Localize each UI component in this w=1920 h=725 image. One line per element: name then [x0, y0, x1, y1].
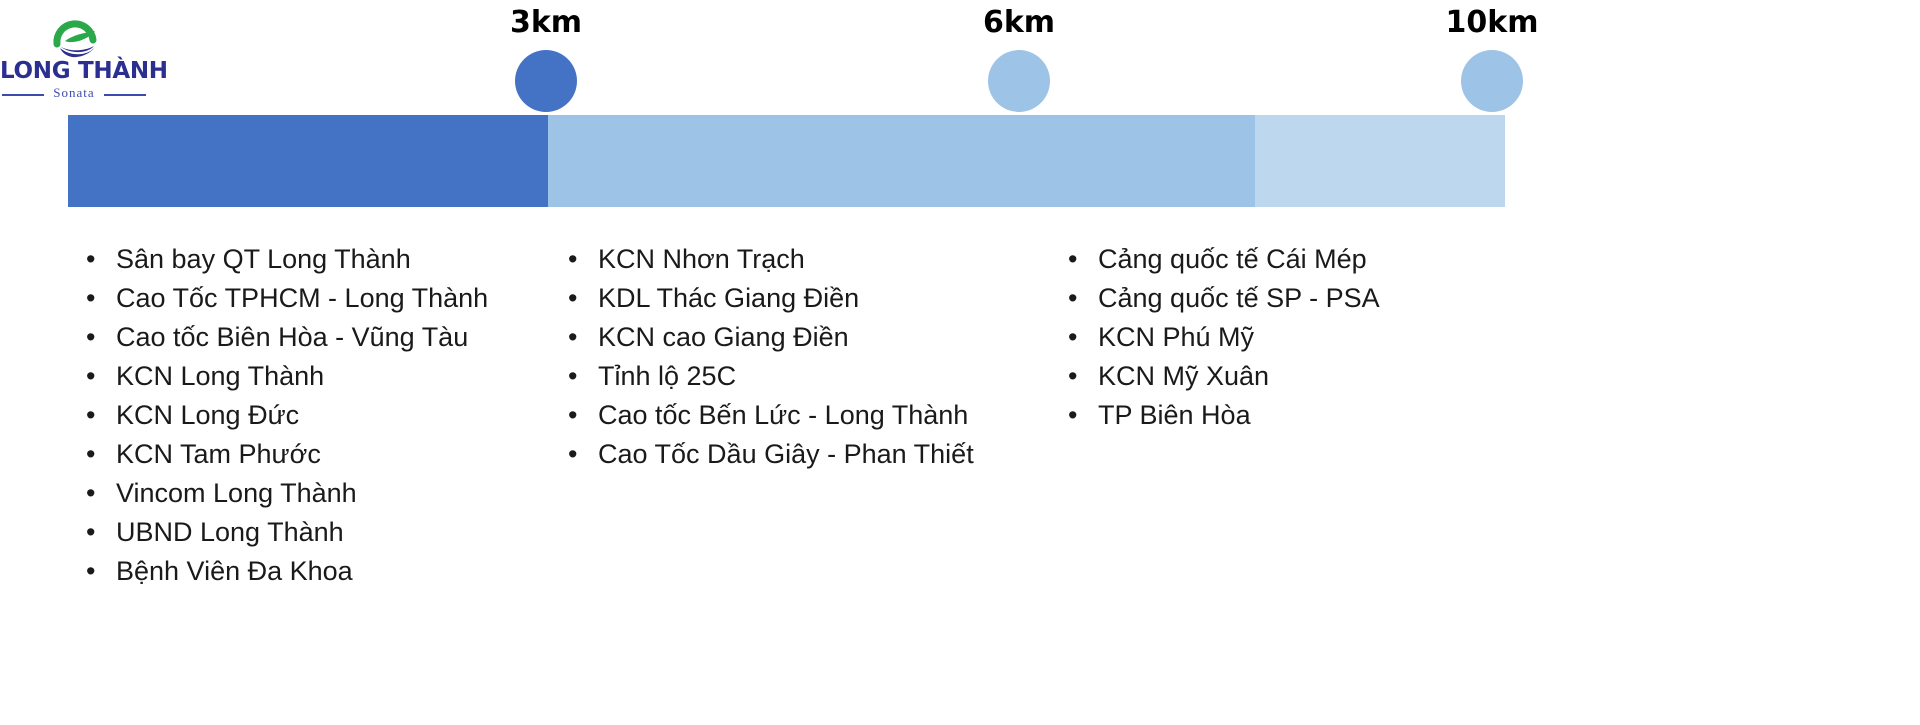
bullet-icon: •	[1068, 279, 1077, 318]
bullet-icon: •	[568, 396, 577, 435]
zone-bar-segment-6km	[548, 115, 1255, 207]
amenity-item: •KCN Tam Phước	[68, 435, 488, 474]
amenity-item: •Cao tốc Bến Lức - Long Thành	[550, 396, 974, 435]
amenity-list-3km: •Sân bay QT Long Thành•Cao Tốc TPHCM - L…	[68, 240, 488, 591]
amenity-column-10km: •Cảng quốc tế Cái Mép•Cảng quốc tế SP - …	[1050, 240, 1380, 435]
distance-marker-10km: 10km	[1432, 5, 1552, 115]
amenity-label: KCN cao Giang Điền	[598, 322, 849, 352]
distance-label-6km: 6km	[983, 5, 1055, 40]
bullet-icon: •	[86, 552, 95, 591]
amenity-item: •KCN Long Đức	[68, 396, 488, 435]
brand-tagline: Sonata	[0, 85, 148, 101]
amenity-label: Cảng quốc tế SP - PSA	[1098, 283, 1380, 313]
distance-marker-3km: 3km	[486, 5, 606, 115]
amenity-label: Cao tốc Bến Lức - Long Thành	[598, 400, 968, 430]
amenity-label: Cao tốc Biên Hòa - Vũng Tàu	[116, 322, 468, 352]
amenity-label: Vincom Long Thành	[116, 478, 357, 508]
brand-name: LONG THÀNH	[0, 58, 148, 84]
infographic-canvas: LONG THÀNH Sonata 3km 6km 10km •Sân bay …	[0, 0, 1920, 725]
amenity-item: •KCN Long Thành	[68, 357, 488, 396]
plane-in-circle-logo-icon	[47, 18, 107, 60]
bullet-icon: •	[1068, 318, 1077, 357]
amenity-item: •KCN Nhơn Trạch	[550, 240, 974, 279]
amenity-label: Tỉnh lộ 25C	[598, 361, 736, 391]
bullet-icon: •	[568, 318, 577, 357]
distance-dot-3km-icon	[515, 50, 577, 112]
amenity-column-3km: •Sân bay QT Long Thành•Cao Tốc TPHCM - L…	[68, 240, 488, 591]
amenity-item: •KCN cao Giang Điền	[550, 318, 974, 357]
amenity-item: •Cao tốc Biên Hòa - Vũng Tàu	[68, 318, 488, 357]
amenity-label: TP Biên Hòa	[1098, 400, 1251, 430]
bullet-icon: •	[1068, 240, 1077, 279]
amenity-item: •Sân bay QT Long Thành	[68, 240, 488, 279]
distance-marker-6km: 6km	[959, 5, 1079, 115]
amenity-label: KCN Nhơn Trạch	[598, 244, 805, 274]
bullet-icon: •	[86, 279, 95, 318]
bullet-icon: •	[86, 240, 95, 279]
amenity-list-10km: •Cảng quốc tế Cái Mép•Cảng quốc tế SP - …	[1050, 240, 1380, 435]
amenity-item: •TP Biên Hòa	[1050, 396, 1380, 435]
amenity-label: UBND Long Thành	[116, 517, 344, 547]
amenity-item: •KCN Phú Mỹ	[1050, 318, 1380, 357]
amenity-label: Sân bay QT Long Thành	[116, 244, 411, 274]
bullet-icon: •	[568, 279, 577, 318]
amenity-item: •KDL Thác Giang Điền	[550, 279, 974, 318]
bullet-icon: •	[1068, 396, 1077, 435]
amenity-label: Cảng quốc tế Cái Mép	[1098, 244, 1367, 274]
amenity-label: Cao Tốc TPHCM - Long Thành	[116, 283, 488, 313]
amenity-label: KCN Phú Mỹ	[1098, 322, 1254, 352]
bullet-icon: •	[1068, 357, 1077, 396]
bullet-icon: •	[568, 357, 577, 396]
bullet-icon: •	[86, 318, 95, 357]
amenity-label: KCN Long Thành	[116, 361, 324, 391]
bullet-icon: •	[86, 435, 95, 474]
amenity-item: •UBND Long Thành	[68, 513, 488, 552]
amenity-label: KCN Mỹ Xuân	[1098, 361, 1269, 391]
amenity-item: •Tỉnh lộ 25C	[550, 357, 974, 396]
amenity-item: •Cao Tốc Dầu Giây - Phan Thiết	[550, 435, 974, 474]
amenity-label: KCN Long Đức	[116, 400, 299, 430]
amenity-label: Cao Tốc Dầu Giây - Phan Thiết	[598, 439, 974, 469]
brand-logo: LONG THÀNH Sonata	[0, 18, 148, 100]
bullet-icon: •	[568, 240, 577, 279]
amenity-item: •Cao Tốc TPHCM - Long Thành	[68, 279, 488, 318]
bullet-icon: •	[86, 396, 95, 435]
distance-label-3km: 3km	[510, 5, 582, 40]
bullet-icon: •	[86, 357, 95, 396]
distance-dot-6km-icon	[988, 50, 1050, 112]
zone-bar-segment-3km	[68, 115, 548, 207]
amenity-list-6km: •KCN Nhơn Trạch•KDL Thác Giang Điền•KCN …	[550, 240, 974, 474]
amenity-item: •Bệnh Viên Đa Khoa	[68, 552, 488, 591]
amenity-item: •Vincom Long Thành	[68, 474, 488, 513]
amenity-label: KDL Thác Giang Điền	[598, 283, 859, 313]
amenity-item: •Cảng quốc tế Cái Mép	[1050, 240, 1380, 279]
bullet-icon: •	[86, 474, 95, 513]
bullet-icon: •	[568, 435, 577, 474]
distance-dot-10km-icon	[1461, 50, 1523, 112]
amenity-item: •KCN Mỹ Xuân	[1050, 357, 1380, 396]
zone-bar-segment-10km	[1255, 115, 1505, 207]
distance-label-10km: 10km	[1446, 5, 1539, 40]
amenity-item: •Cảng quốc tế SP - PSA	[1050, 279, 1380, 318]
amenity-label: Bệnh Viên Đa Khoa	[116, 556, 353, 586]
bullet-icon: •	[86, 513, 95, 552]
amenity-column-6km: •KCN Nhơn Trạch•KDL Thác Giang Điền•KCN …	[550, 240, 974, 474]
amenity-label: KCN Tam Phước	[116, 439, 321, 469]
